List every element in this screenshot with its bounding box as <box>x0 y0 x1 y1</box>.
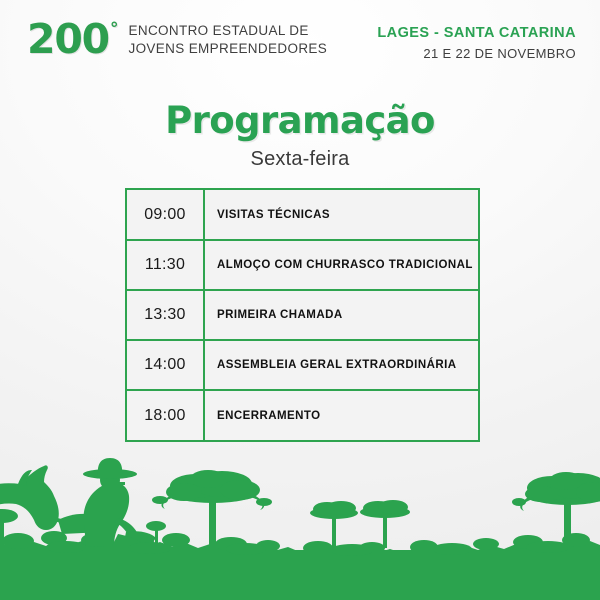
saddle-shape <box>58 514 104 534</box>
tree-branch <box>520 496 534 511</box>
araucaria-tree-large-right <box>512 472 600 548</box>
rider-hand <box>124 531 156 546</box>
rider-arm <box>114 518 138 538</box>
tree-canopy <box>550 473 600 499</box>
tree-canopy <box>326 501 356 515</box>
tree-branch <box>249 494 264 510</box>
page-title-block: Programação Sexta-feira <box>0 100 600 171</box>
event-logo: 200 ° ENCONTRO ESTADUAL DE JOVENS EMPREE… <box>27 19 327 59</box>
table-row: 13:30 PRIMEIRA CHAMADA <box>127 290 478 340</box>
tree-trunk <box>332 516 336 548</box>
araucaria-tree-large <box>152 470 272 548</box>
schedule-description: ENCERRAMENTO <box>204 390 478 440</box>
tree-canopy <box>576 482 600 502</box>
rider-head <box>100 470 120 490</box>
logo-number-text: 200 <box>27 19 109 59</box>
shrub-shape <box>215 537 247 551</box>
shrub-shape <box>256 540 280 552</box>
shrub-shape <box>410 540 438 554</box>
shrub-shape <box>2 533 34 549</box>
horse-shape <box>0 465 59 548</box>
schedule-description: VISITAS TÉCNICAS <box>204 190 478 240</box>
gaucho-on-horse-silhouette <box>0 458 156 548</box>
grass-tuft <box>330 544 374 556</box>
tree-canopy <box>360 506 410 518</box>
rider-shape <box>83 458 156 546</box>
tree-canopy <box>220 480 260 500</box>
tree-canopy <box>310 507 358 519</box>
shrub-shape <box>513 535 543 549</box>
grass-tuft <box>526 541 570 553</box>
logo-degree-icon: ° <box>110 21 119 38</box>
schedule-description: PRIMEIRA CHAMADA <box>204 290 478 340</box>
horse-rein-shape <box>50 516 106 536</box>
tree-canopy <box>527 476 577 500</box>
schedule-time: 18:00 <box>127 390 204 440</box>
event-name-block: ENCONTRO ESTADUAL DE JOVENS EMPREENDEDOR… <box>128 22 327 58</box>
tree-branch-tip <box>256 498 272 506</box>
rider-neck <box>105 486 115 494</box>
rider-mouth-detail <box>118 482 125 485</box>
schedule-time: 09:00 <box>127 190 204 240</box>
shrub-shape <box>81 533 111 547</box>
event-name-line-1: ENCONTRO ESTADUAL DE <box>128 22 327 40</box>
tree-trunk <box>209 498 216 548</box>
ground-shape <box>0 540 600 600</box>
grass-tuft <box>46 541 86 553</box>
shrub-shape <box>162 533 190 547</box>
araucaria-tree-edge-left <box>0 509 18 548</box>
table-row: 18:00 ENCERRAMENTO <box>127 390 478 440</box>
tree-branch-tip <box>512 498 526 506</box>
tree-canopy <box>549 472 583 490</box>
schedule-description: ALMOÇO COM CHURRASCO TRADICIONAL <box>204 240 478 290</box>
schedule-description: ASSEMBLEIA GERAL EXTRAORDINÁRIA <box>204 340 478 390</box>
tree-canopy <box>526 483 600 505</box>
shrub-shape <box>473 538 499 550</box>
tree-trunk <box>0 520 4 548</box>
tree-canopy <box>190 470 226 488</box>
schedule-table: 09:00 VISITAS TÉCNICAS 11:30 ALMOÇO COM … <box>127 190 478 440</box>
tree-canopy <box>0 509 18 523</box>
araucaria-tree-small-1 <box>310 501 358 548</box>
tree-canopy <box>146 521 166 531</box>
page-title: Programação <box>0 100 600 142</box>
tree-branch-tip <box>152 496 168 504</box>
poster-canvas: 200 ° ENCONTRO ESTADUAL DE JOVENS EMPREE… <box>0 0 600 600</box>
rider-gear-shape <box>112 534 146 546</box>
horse-mane-shape <box>18 470 32 486</box>
schedule-time: 11:30 <box>127 240 204 290</box>
tree-canopy <box>192 471 252 497</box>
tree-trunk <box>383 515 387 548</box>
schedule-table-wrapper: 09:00 VISITAS TÉCNICAS 11:30 ALMOÇO COM … <box>125 188 480 442</box>
poster-header: 200 ° ENCONTRO ESTADUAL DE JOVENS EMPREE… <box>0 0 600 82</box>
tree-trunk <box>155 528 158 548</box>
grass-tuft <box>128 542 172 554</box>
araucaria-tree-small-2 <box>360 500 410 548</box>
event-name-line-2: JOVENS EMPREENDEDORES <box>128 40 327 58</box>
shrub-shape <box>303 541 333 555</box>
scenery-illustration <box>0 420 600 600</box>
shrub-shape <box>41 531 67 545</box>
table-row: 14:00 ASSEMBLEIA GERAL EXTRAORDINÁRIA <box>127 340 478 390</box>
grass-tuft <box>226 543 266 555</box>
event-dates-label: 21 E 22 DE NOVEMBRO <box>377 44 576 63</box>
tree-canopy <box>525 486 557 502</box>
tree-canopy <box>168 481 258 503</box>
tree-canopy <box>166 483 202 501</box>
grass-tuft <box>432 543 472 555</box>
tree-canopy <box>378 500 408 514</box>
shrub-shape <box>130 536 154 548</box>
shrub-shape <box>359 542 385 554</box>
tree-branch <box>162 494 176 509</box>
schedule-time: 14:00 <box>127 340 204 390</box>
rider-hat-brim <box>83 469 137 479</box>
event-city-label: LAGES - SANTA CATARINA <box>377 24 576 43</box>
table-row: 09:00 VISITAS TÉCNICAS <box>127 190 478 240</box>
shrub-shape <box>562 533 590 547</box>
tree-canopy <box>313 502 341 516</box>
landscape-silhouette-svg <box>0 420 600 600</box>
rider-hat-crown <box>98 458 122 474</box>
tree-canopy <box>170 474 222 498</box>
araucaria-tree-mid <box>146 521 166 548</box>
tree-canopy <box>363 501 393 515</box>
table-row: 11:30 ALMOÇO COM CHURRASCO TRADICIONAL <box>127 240 478 290</box>
schedule-table-body: 09:00 VISITAS TÉCNICAS 11:30 ALMOÇO COM … <box>127 190 478 440</box>
foreground-grass-shape <box>0 550 600 600</box>
page-subtitle: Sexta-feira <box>0 147 600 171</box>
schedule-time: 13:30 <box>127 290 204 340</box>
rider-torso <box>83 482 129 546</box>
tree-trunk <box>564 500 571 548</box>
event-location-block: LAGES - SANTA CATARINA 21 E 22 DE NOVEMB… <box>377 24 576 63</box>
